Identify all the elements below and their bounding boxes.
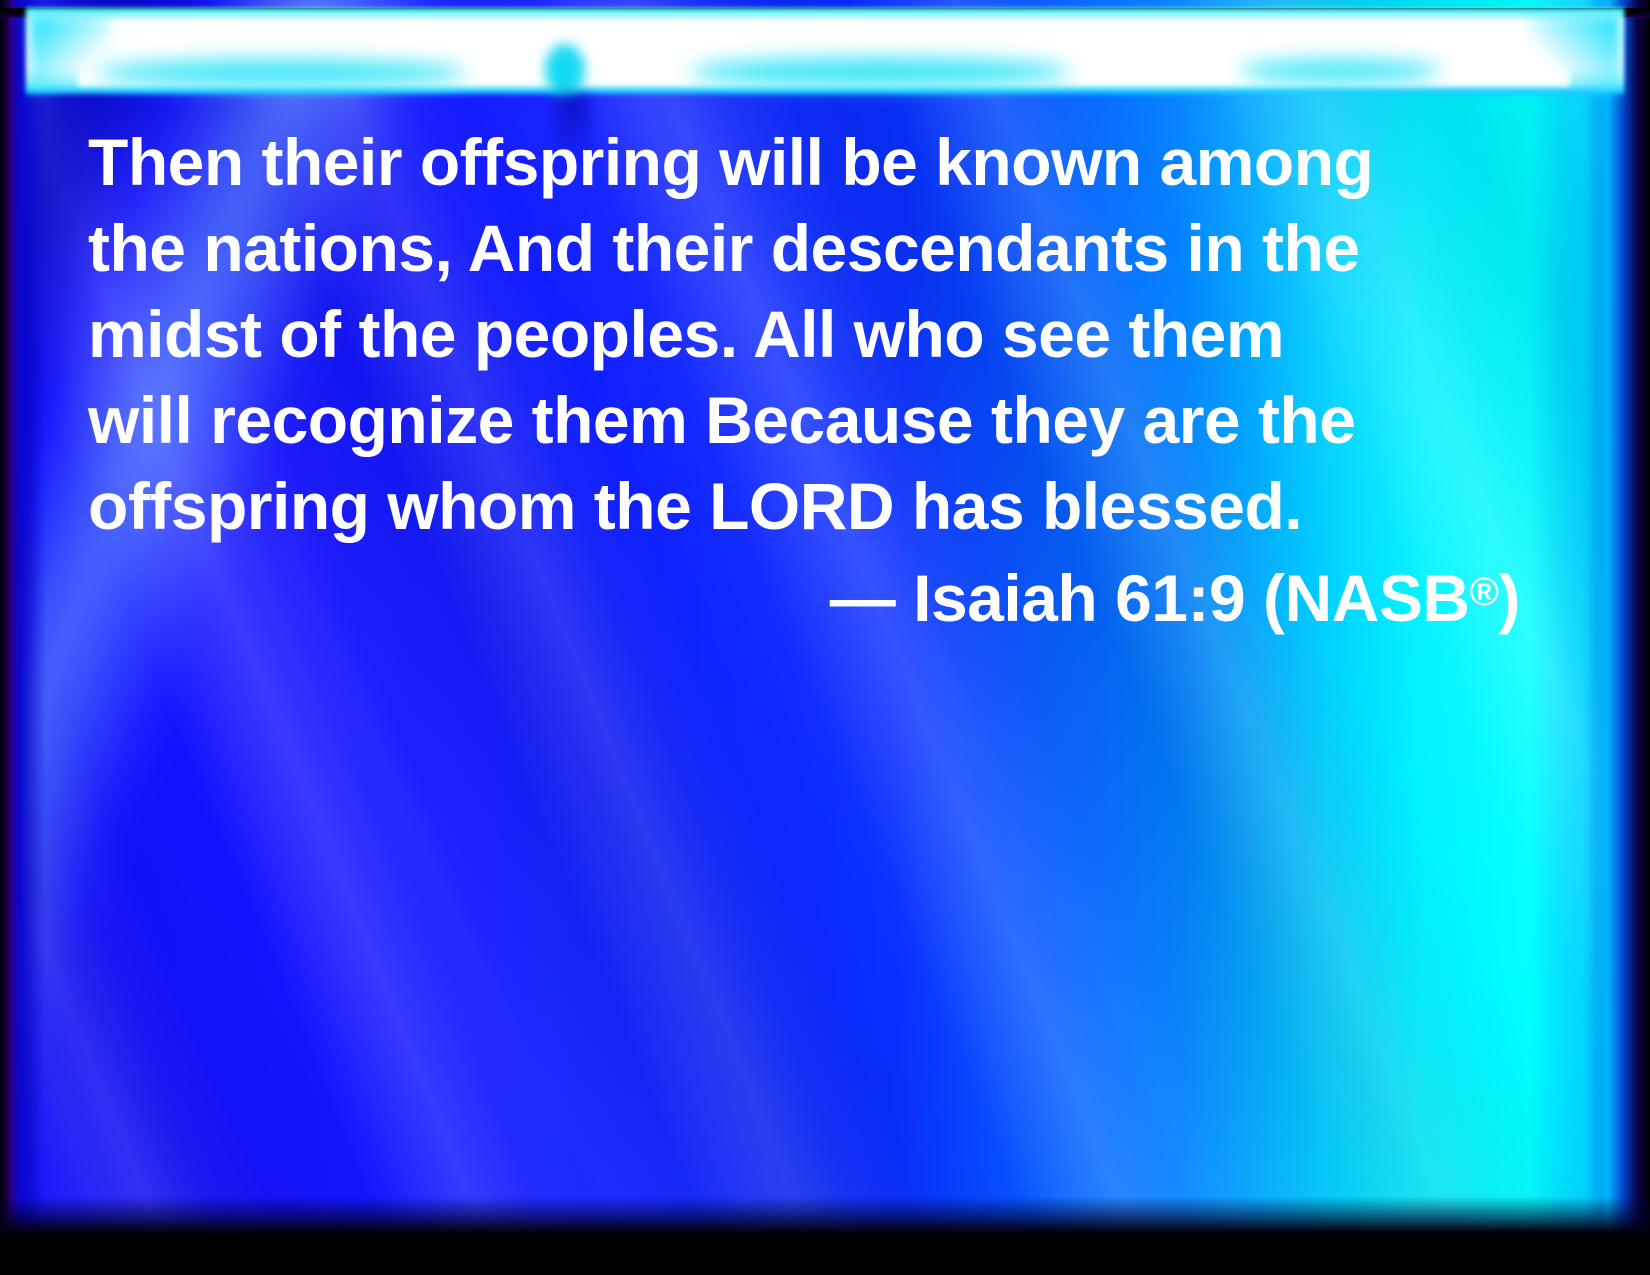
attribution-translation-open: (NASB <box>1263 561 1470 635</box>
band-cyan-blob-center <box>690 58 1070 86</box>
verse-attribution: — Isaiah 61:9 (NASB®) <box>88 549 1528 641</box>
band-cyan-blob-left <box>96 60 466 86</box>
verse-line-5: offspring whom the LORD has blessed. <box>88 463 1528 549</box>
band-corner-right <box>1530 16 1620 96</box>
band-cyan-blob-right <box>1240 60 1440 82</box>
attribution-dash: — <box>830 561 896 635</box>
attribution-translation-close: ) <box>1499 561 1520 635</box>
verse-line-2: the nations, And their descendants in th… <box>88 205 1528 291</box>
right-edge-glow <box>1560 0 1650 1236</box>
verse-slide: Then their offspring will be known among… <box>0 0 1650 1275</box>
band-cyan-notch <box>545 44 585 96</box>
verse-line-3: midst of the peoples. All who see them <box>88 291 1528 377</box>
left-edge-shadow <box>0 0 46 1236</box>
verse-line-1: Then their offspring will be known among <box>88 119 1528 205</box>
verse-line-4: will recognize them Because they are the <box>88 377 1528 463</box>
band-corner-left <box>30 16 110 96</box>
attribution-reference: Isaiah 61:9 <box>913 561 1245 635</box>
bottom-edge-shadow <box>0 1196 1650 1236</box>
verse-text-block: Then their offspring will be known among… <box>88 119 1528 641</box>
registered-trademark-icon: ® <box>1470 570 1499 614</box>
top-glow-band <box>0 8 1650 96</box>
